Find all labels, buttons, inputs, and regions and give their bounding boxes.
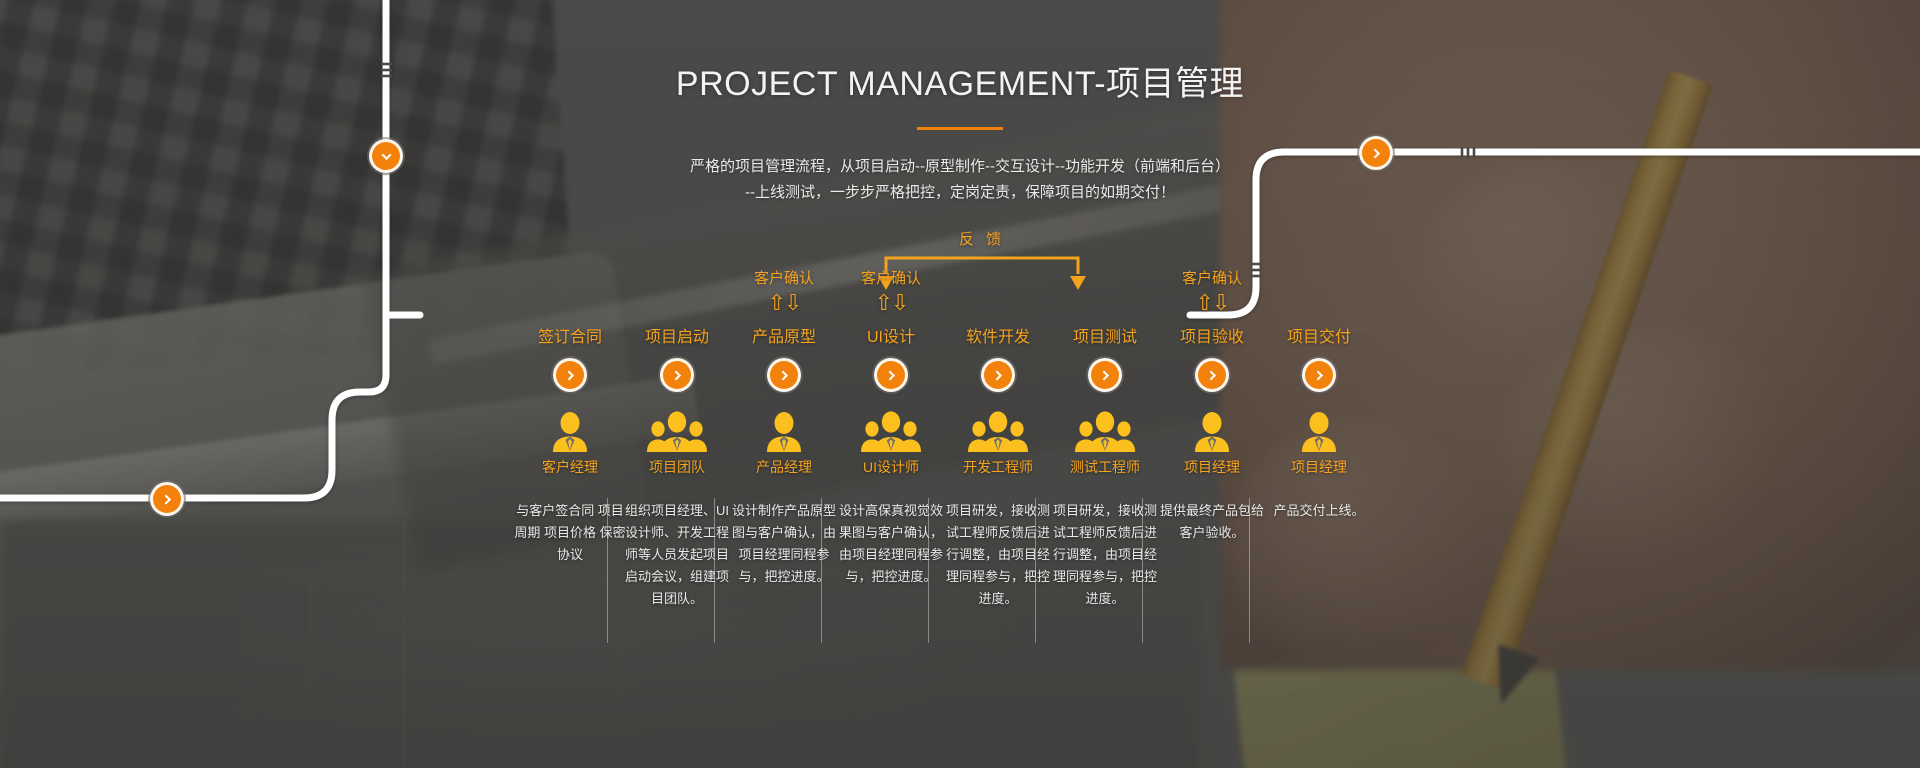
stage-description: 提供最终产品包给客户验收。 xyxy=(1156,500,1268,544)
stage-node-button[interactable] xyxy=(981,358,1015,392)
stage-name: 项目交付 xyxy=(1255,328,1383,348)
chevron-right-icon xyxy=(885,370,895,380)
stage-divider xyxy=(821,498,822,643)
title-underline xyxy=(917,127,1003,130)
stage-description: 设计制作产品原型图与客户确认，由项目经理同程参与，把控进度。 xyxy=(728,500,840,588)
chevron-right-icon xyxy=(161,494,171,504)
chevron-right-icon xyxy=(564,370,574,380)
stage-node-button[interactable] xyxy=(767,358,801,392)
path-node-bottom-left[interactable] xyxy=(150,482,184,516)
client-confirm-arrows-icon: ⇧⇩ xyxy=(1148,292,1276,314)
stage-cue-label: 客户确认 xyxy=(827,270,955,288)
stage-description: 组织项目经理、UI设计师、开发工程师等人员发起项目启动会议，组建项目团队。 xyxy=(621,500,733,610)
stage-divider xyxy=(607,498,608,643)
group-person-icon xyxy=(967,410,1029,454)
project-timeline: 反 馈 签订合同客户经理与客户签合同 项目周期 项目价格 保密协议项目启动项目团… xyxy=(500,270,1480,710)
stage-description: 项目研发，接收测试工程师反馈后进行调整，由项目经理同程参与，把控进度。 xyxy=(1049,500,1161,610)
group-person-icon xyxy=(646,410,708,454)
chevron-right-icon xyxy=(1099,370,1109,380)
stage-node-button[interactable] xyxy=(1195,358,1229,392)
stage-node-button[interactable] xyxy=(1088,358,1122,392)
subtitle-line-2: --上线测试，一步步严格把控，定岗定责，保障项目的如期交付！ xyxy=(0,180,1920,206)
page-title: PROJECT MANAGEMENT-项目管理 xyxy=(0,56,1920,105)
stage-divider xyxy=(1142,498,1143,643)
single-person-icon xyxy=(1190,410,1234,454)
stage-description: 设计高保真视觉效果图与客户确认，由项目经理同程参与，把控进度。 xyxy=(835,500,947,588)
single-person-icon xyxy=(548,410,592,454)
stage-cue-label: 客户确认 xyxy=(1148,270,1276,288)
client-confirm-arrows-icon: ⇧⇩ xyxy=(827,292,955,314)
header: PROJECT MANAGEMENT-项目管理 严格的项目管理流程，从项目启动-… xyxy=(0,0,1920,206)
subtitle-line-1: 严格的项目管理流程，从项目启动--原型制作--交互设计--功能开发（前端和后台） xyxy=(0,154,1920,180)
stage-node-button[interactable] xyxy=(1302,358,1336,392)
chevron-right-icon xyxy=(1313,370,1323,380)
stage-divider xyxy=(714,498,715,643)
stage-role-name: 项目经理 xyxy=(1255,458,1383,476)
stage-node-button[interactable] xyxy=(553,358,587,392)
chevron-right-icon xyxy=(671,370,681,380)
stage-description: 与客户签合同 项目周期 项目价格 保密协议 xyxy=(514,500,626,566)
single-person-icon xyxy=(1297,410,1341,454)
stage-role: 项目经理 xyxy=(1255,410,1383,476)
stage-node-button[interactable] xyxy=(660,358,694,392)
stage-divider xyxy=(1035,498,1036,643)
chevron-right-icon xyxy=(1206,370,1216,380)
slide-canvas: PROJECT MANAGEMENT-项目管理 严格的项目管理流程，从项目启动-… xyxy=(0,0,1920,768)
group-person-icon xyxy=(860,410,922,454)
chevron-right-icon xyxy=(992,370,1002,380)
stage-divider xyxy=(1249,498,1250,643)
stage-divider xyxy=(928,498,929,643)
feedback-label: 反 馈 xyxy=(874,228,1090,249)
single-person-icon xyxy=(762,410,806,454)
stage-node-button[interactable] xyxy=(874,358,908,392)
group-person-icon xyxy=(1074,410,1136,454)
chevron-right-icon xyxy=(778,370,788,380)
stage-description: 项目研发，接收测试工程师反馈后进行调整，由项目经理同程参与，把控进度。 xyxy=(942,500,1054,610)
page-subtitle: 严格的项目管理流程，从项目启动--原型制作--交互设计--功能开发（前端和后台）… xyxy=(0,154,1920,206)
stage-description: 产品交付上线。 xyxy=(1263,500,1375,522)
